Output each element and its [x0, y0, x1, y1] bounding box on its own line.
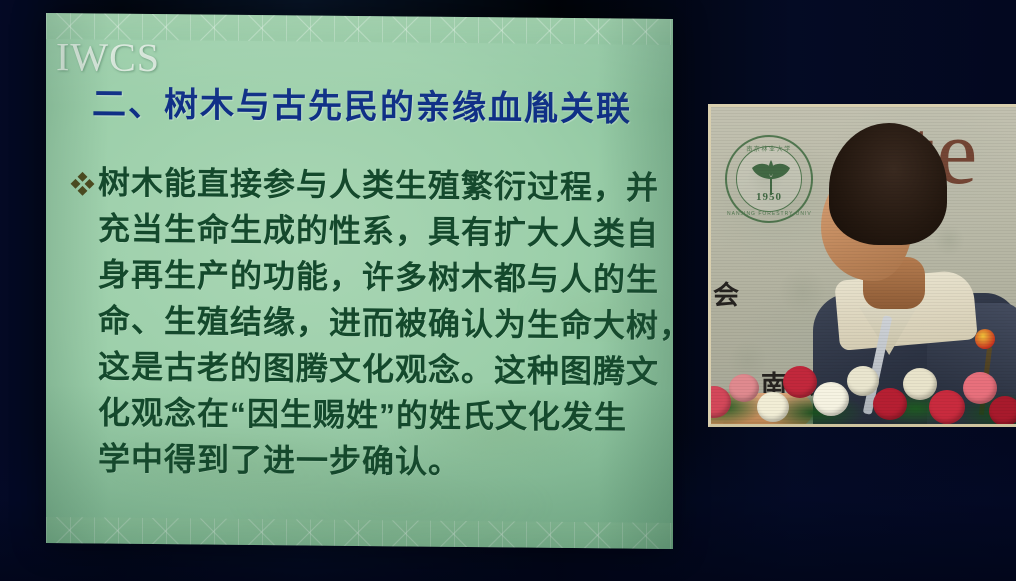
flower — [989, 396, 1016, 426]
flower — [903, 368, 937, 400]
flower — [873, 388, 907, 420]
seal-text-top: 南京林业大学 — [727, 144, 811, 153]
banner-chinese-line: 会 — [713, 275, 741, 312]
flower — [963, 372, 997, 404]
university-seal: 南京林业大学 1950 NANJING FORESTRY UNIVERSITY — [725, 135, 813, 223]
seal-year: 1950 — [727, 191, 811, 203]
flower — [757, 392, 789, 422]
flower — [929, 390, 965, 424]
flower — [847, 366, 879, 396]
speaker-hair — [829, 123, 947, 245]
podium-flower-arrangement — [708, 336, 1016, 427]
flower — [813, 382, 849, 416]
screenshot-stage: IWCS 二、树木与古先民的亲缘血胤关联 树木能直接参与人类生殖繁衍过程，并 充… — [0, 0, 1016, 581]
speaker-video-inset: nte 南京林业大学 1950 NANJING FORESTRY UNIVERS… — [708, 104, 1016, 427]
seal-text-bottom: NANJING FORESTRY UNIVERSITY — [727, 211, 811, 217]
flower — [729, 374, 759, 402]
projected-slide: IWCS 二、树木与古先民的亲缘血胤关联 树木能直接参与人类生殖繁衍过程，并 充… — [46, 13, 673, 549]
slide-surface: IWCS 二、树木与古先民的亲缘血胤关联 树木能直接参与人类生殖繁衍过程，并 充… — [46, 13, 673, 549]
flower — [783, 366, 817, 398]
slide-vignette — [46, 13, 673, 549]
